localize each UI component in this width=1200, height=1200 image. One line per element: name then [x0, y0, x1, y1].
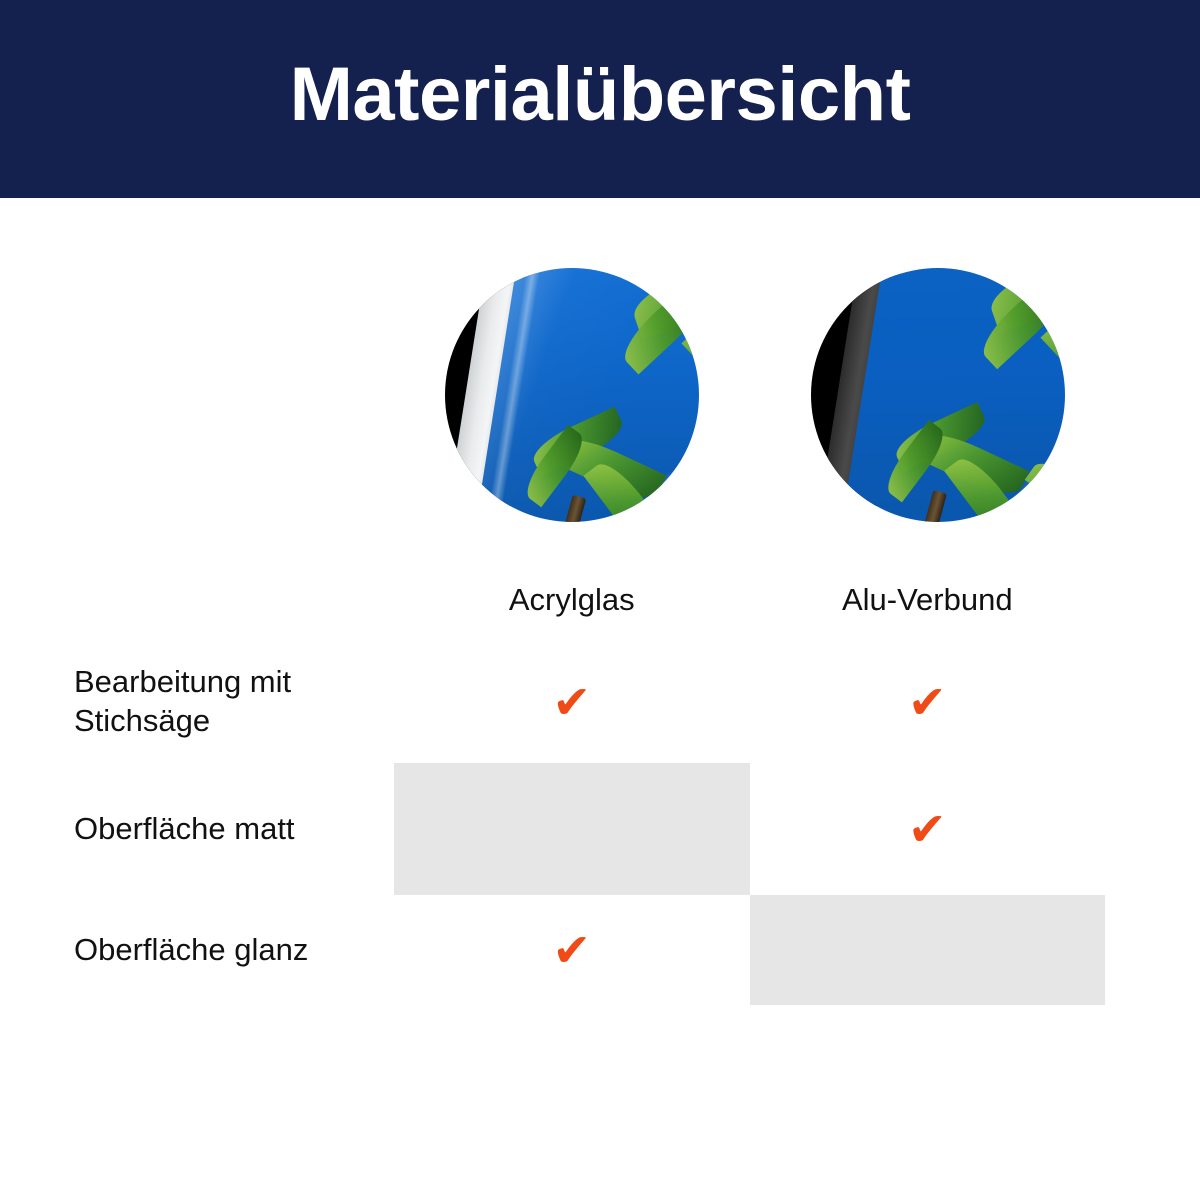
alu-verbund-sample-image	[811, 268, 1065, 522]
column-header-acrylglas: Acrylglas	[394, 560, 750, 640]
page-title: Materialübersicht	[290, 57, 911, 133]
cell-acrylglas-matt	[394, 763, 750, 895]
acrylglas-sample-image	[445, 268, 699, 522]
cell-alu-verbund-glanz	[750, 895, 1106, 1005]
empty-marker	[550, 805, 594, 849]
cell-alu-verbund-matt: ✔	[750, 763, 1106, 895]
empty-marker	[905, 926, 949, 970]
cell-acrylglas-glanz: ✔	[394, 895, 750, 1005]
alu-verbund-panel	[811, 268, 1065, 522]
check-icon: ✔	[550, 680, 594, 724]
row-label-oberflaeche-glanz: Oberfläche glanz	[74, 895, 394, 1005]
row-label-bearbeitung-stichsaege: Bearbeitung mit Stichsäge	[74, 640, 394, 763]
row-label-oberflaeche-matt: Oberfläche matt	[74, 763, 394, 895]
acrylglas-panel	[445, 268, 699, 522]
cell-acrylglas-bearbeitung: ✔	[394, 640, 750, 763]
header-banner: Materialübersicht	[0, 0, 1200, 198]
cell-alu-verbund-bearbeitung: ✔	[750, 640, 1106, 763]
check-icon: ✔	[905, 680, 949, 724]
check-icon: ✔	[550, 928, 594, 972]
column-header-alu-verbund: Alu-Verbund	[750, 560, 1106, 640]
sample-images-row	[0, 268, 1200, 522]
comparison-matrix: Acrylglas Alu-Verbund Bearbeitung mit St…	[74, 560, 1105, 1005]
check-icon: ✔	[905, 807, 949, 851]
material-comparison-table: Acrylglas Alu-Verbund Bearbeitung mit St…	[74, 560, 1105, 1008]
table-row: Bearbeitung mit Stichsäge ✔ ✔	[74, 640, 1105, 763]
header-corner-blank	[74, 560, 394, 640]
table-row: Oberfläche glanz ✔	[74, 895, 1105, 1005]
table-row: Oberfläche matt ✔	[74, 763, 1105, 895]
table-header-row: Acrylglas Alu-Verbund	[74, 560, 1105, 640]
